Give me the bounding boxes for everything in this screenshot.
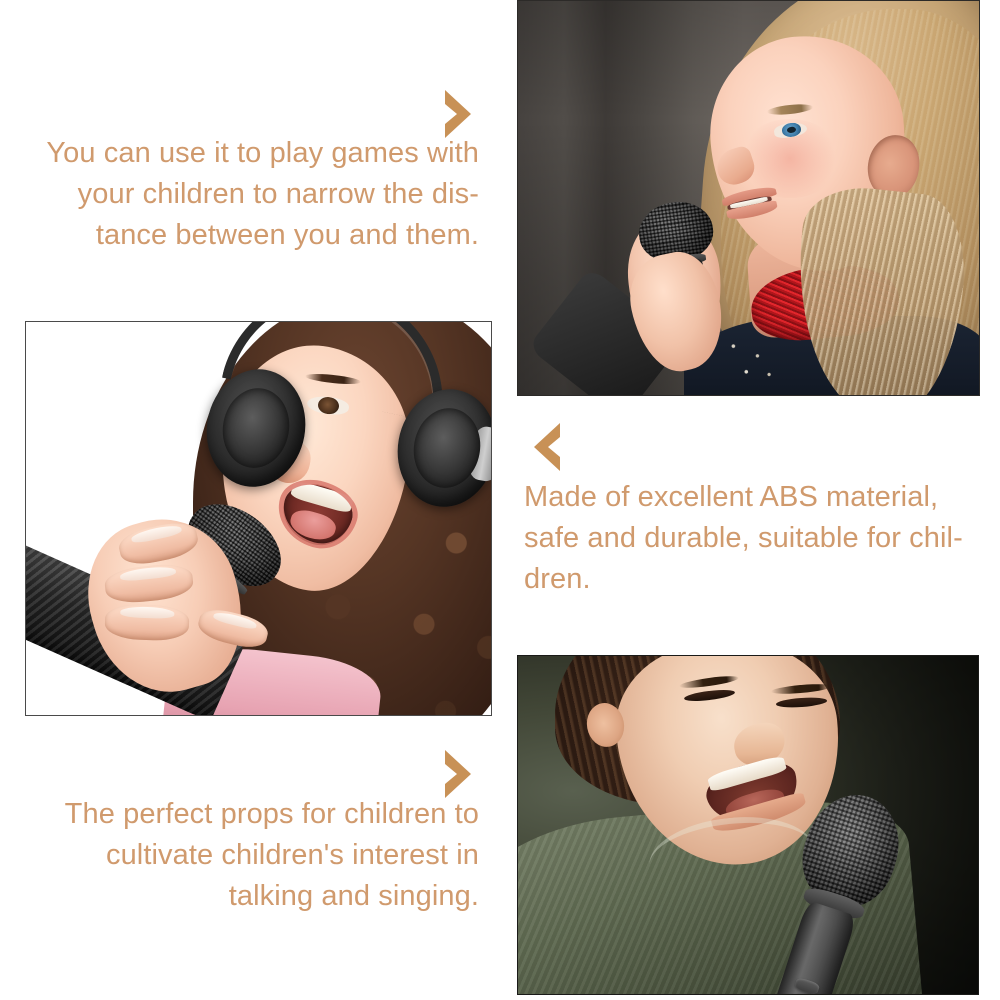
photo-boy-singing [517,655,979,995]
chevron-right-icon [441,748,481,800]
feature-text-abs-material: Made of excellent ABS material, safe and… [524,477,990,600]
fingernail [120,606,174,619]
microphone-button-1 [793,977,820,994]
chevron-left-icon [524,421,564,473]
product-feature-collage: You can use it to play games with your c… [0,0,1000,1000]
jacket-sequins [721,328,785,392]
photo-girl-singing [517,0,980,396]
feature-text-play-games: You can use it to play games with your c… [20,133,479,256]
photo-woman-headphones [25,321,492,716]
feature-text-perfect-props: The perfect props for children to cultiv… [20,794,479,917]
